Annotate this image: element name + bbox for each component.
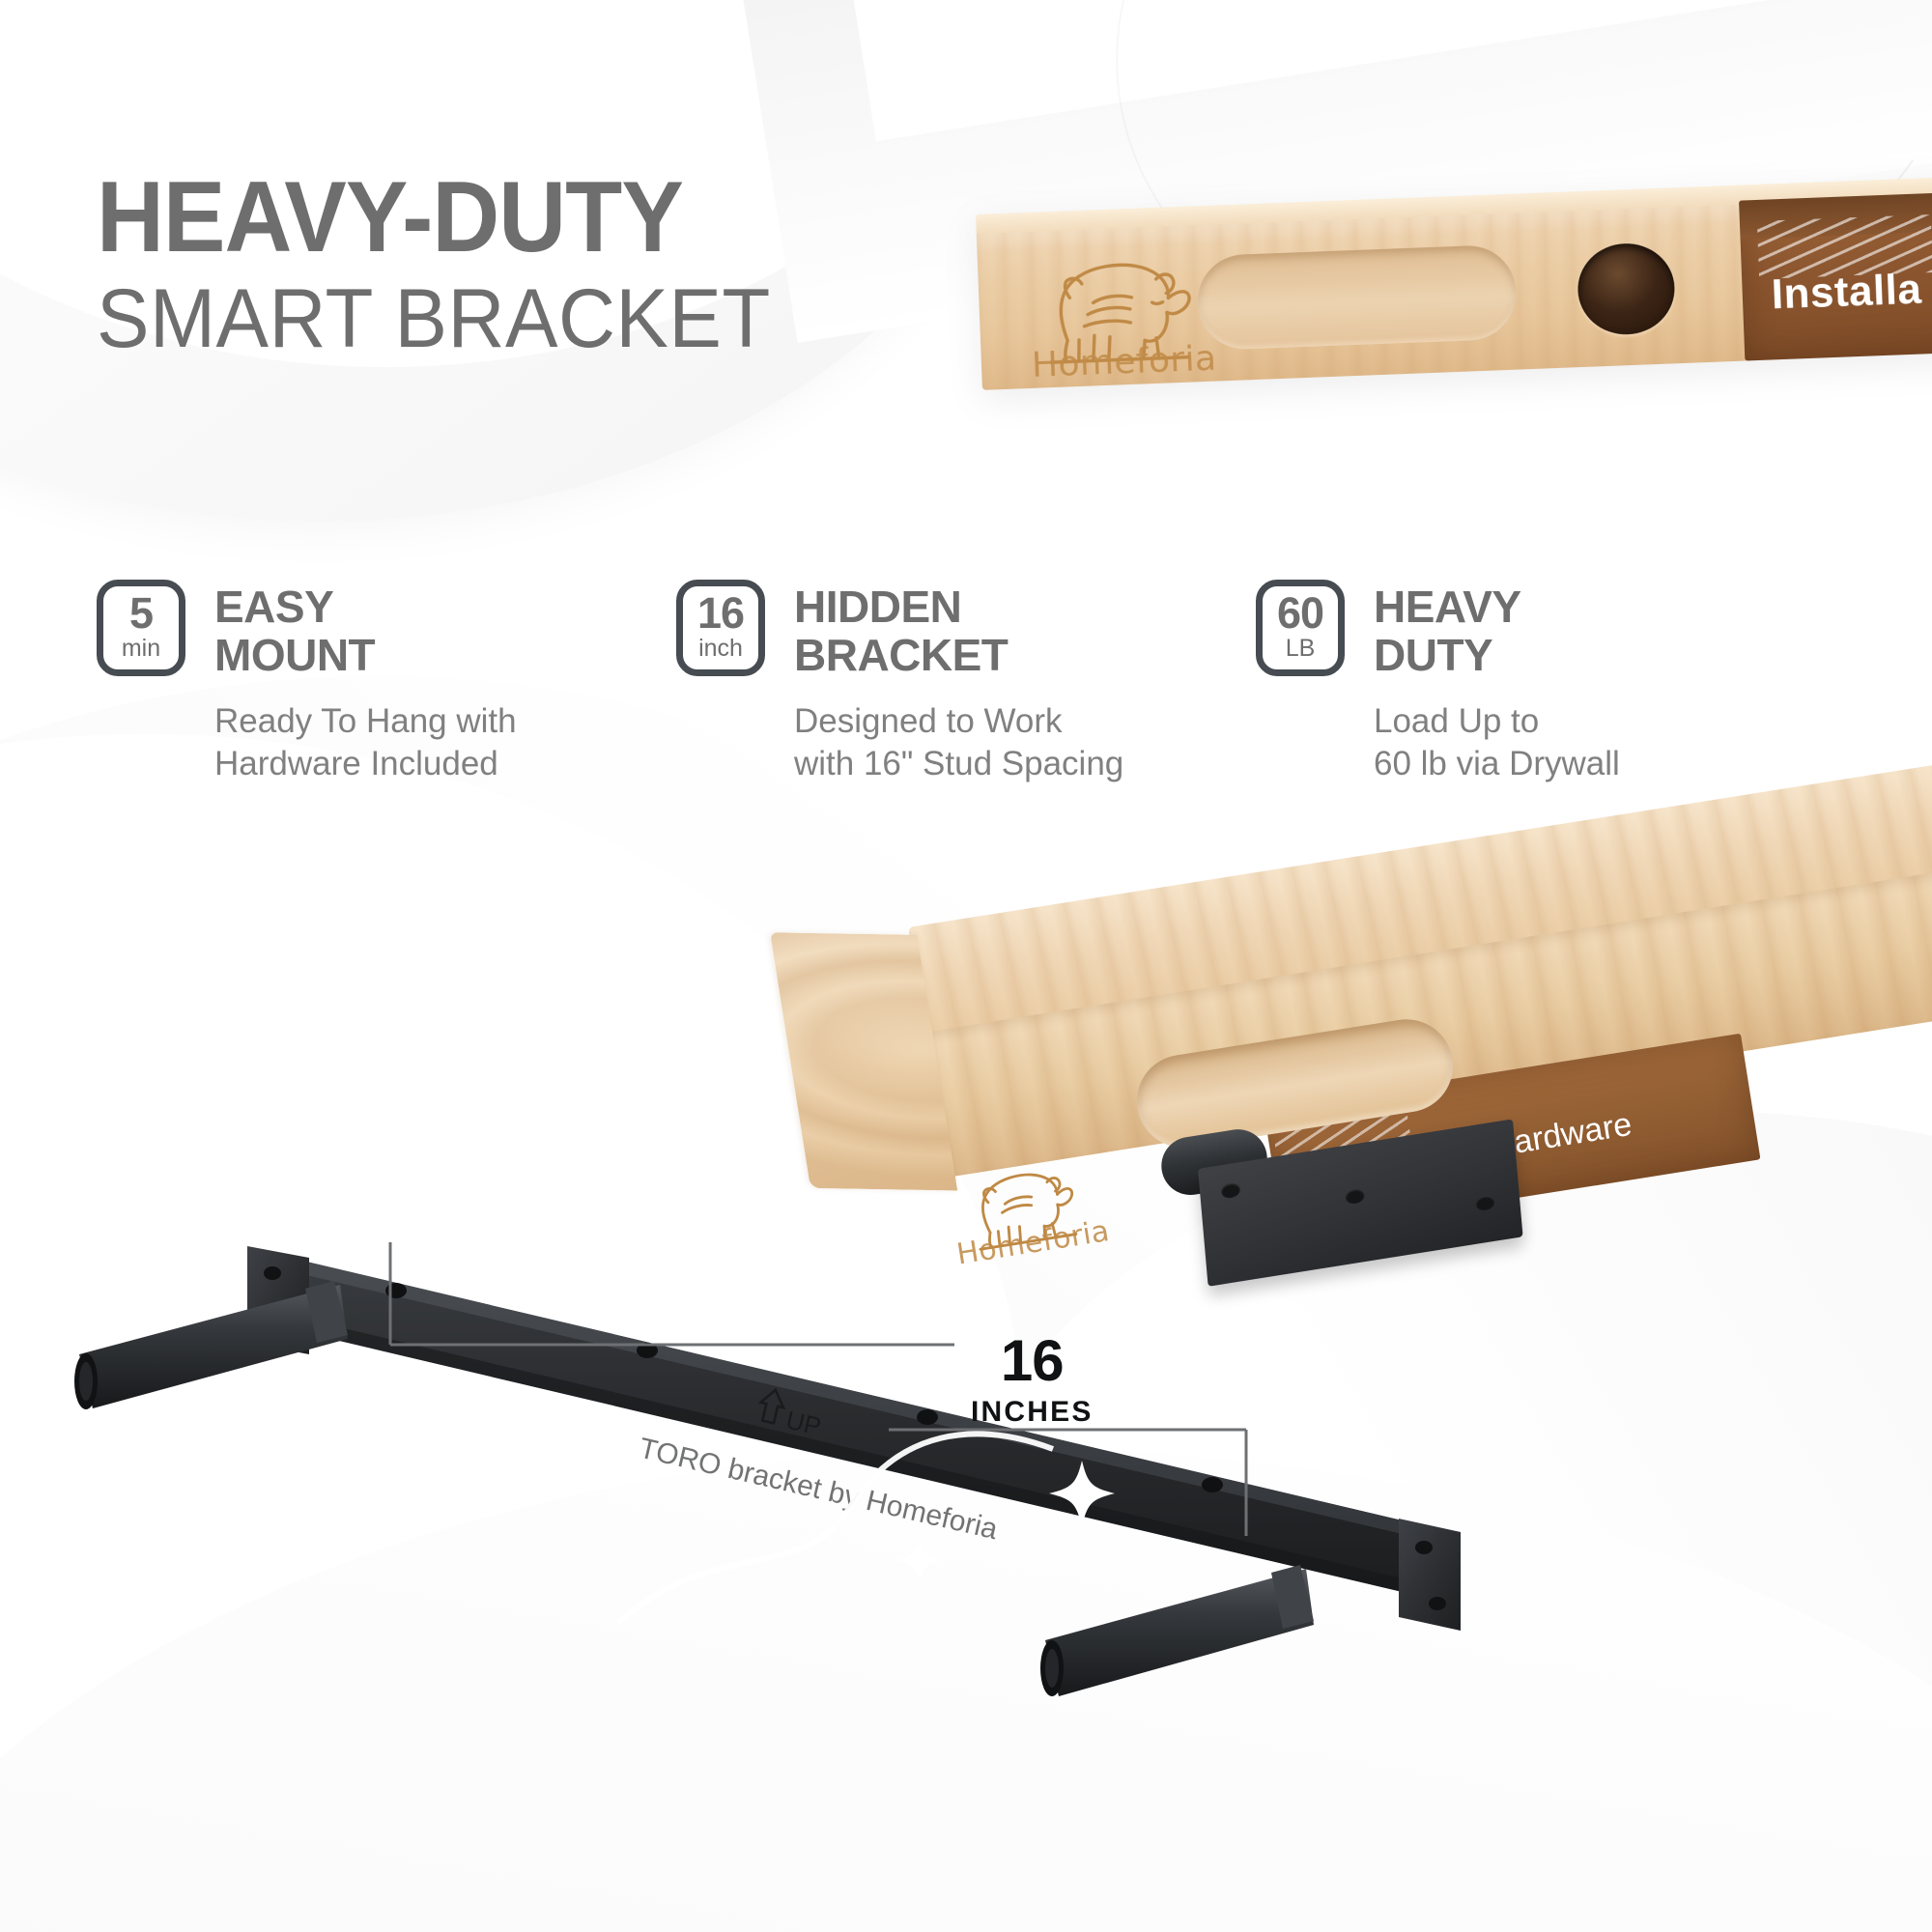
feature-desc-line2: with 16" Stud Spacing — [794, 743, 1256, 785]
bracket-wall-plate-right — [1399, 1519, 1461, 1631]
feature-title: HIDDEN BRACKET — [794, 580, 1008, 679]
title-line-heavy-duty: HEAVY-DUTY — [97, 170, 756, 267]
feature-title-line2: BRACKET — [794, 632, 1008, 680]
feature-title-line1: HEAVY — [1374, 583, 1521, 632]
feature-description: Ready To Hang with Hardware Included — [214, 700, 676, 785]
badge-unit: LB — [1286, 636, 1316, 663]
feature-description: Load Up to 60 lb via Drywall — [1374, 700, 1835, 785]
feature-desc-line2: Hardware Included — [214, 743, 676, 785]
feature-desc-line1: Designed to Work — [794, 700, 1256, 743]
feature-title-line1: EASY — [214, 583, 375, 632]
feature-header: 16 inch HIDDEN BRACKET — [676, 580, 1256, 679]
feature-title: HEAVY DUTY — [1374, 580, 1521, 679]
diagonal-sheet-highlight — [831, 0, 1932, 141]
feature-list: 5 min EASY MOUNT Ready To Hang with Hard… — [97, 580, 1855, 786]
badge-value: 5 — [129, 594, 153, 634]
feature-title-line1: HIDDEN — [794, 583, 1008, 632]
brand-engraving-top: Homeforia — [1031, 339, 1217, 385]
feature-header: 60 LB HEAVY DUTY — [1256, 580, 1835, 679]
bracket-support-rod-right — [1040, 1565, 1314, 1696]
feature-title: EASY MOUNT — [214, 580, 375, 679]
hardware-box-top-label: Installa — [1771, 265, 1922, 319]
dimension-unit: INCHES — [971, 1396, 1094, 1429]
badge-5-min: 5 min — [97, 580, 185, 676]
bracket-back-bar — [249, 1248, 1410, 1594]
feature-header: 5 min EASY MOUNT — [97, 580, 676, 679]
bracket-slot-top — [1196, 244, 1519, 352]
steel-bracket-illustration: TORO bracket by Homeforia UP — [58, 1246, 1468, 1884]
feature-desc-line2: 60 lb via Drywall — [1374, 743, 1835, 785]
badge-unit: inch — [698, 636, 743, 663]
dimension-value: 16 — [971, 1333, 1094, 1390]
feature-easy-mount: 5 min EASY MOUNT Ready To Hang with Hard… — [97, 580, 676, 786]
feature-description: Designed to Work with 16" Stud Spacing — [794, 700, 1256, 785]
dimension-callout: 16 INCHES — [971, 1333, 1094, 1429]
infographic-canvas: HEAVY-DUTY SMART BRACKET — [0, 0, 1932, 1932]
feature-hidden-bracket: 16 inch HIDDEN BRACKET Designed to Work … — [676, 580, 1256, 786]
badge-60-lb: 60 LB — [1256, 580, 1345, 676]
badge-value: 60 — [1277, 594, 1323, 634]
feature-title-line2: DUTY — [1374, 632, 1521, 680]
bracket-hole — [1220, 1181, 1240, 1199]
hardware-box-top: Installa — [1739, 188, 1932, 361]
bracket-hole — [1475, 1194, 1495, 1211]
feature-title-line2: MOUNT — [214, 632, 375, 680]
bracket-hole — [1345, 1187, 1365, 1205]
feature-desc-line1: Ready To Hang with — [214, 700, 676, 743]
product-photo-top: Homeforia Installa — [976, 173, 1932, 408]
page-title: HEAVY-DUTY SMART BRACKET — [97, 170, 806, 364]
feature-desc-line1: Load Up to — [1374, 700, 1835, 743]
feature-heavy-duty: 60 LB HEAVY DUTY Load Up to 60 lb via Dr… — [1256, 580, 1835, 786]
title-line-smart-bracket: SMART BRACKET — [97, 274, 771, 364]
badge-16-inch: 16 inch — [676, 580, 765, 676]
bracket-support-rod-left — [74, 1281, 348, 1409]
badge-unit: min — [122, 636, 160, 663]
badge-value: 16 — [697, 594, 744, 634]
